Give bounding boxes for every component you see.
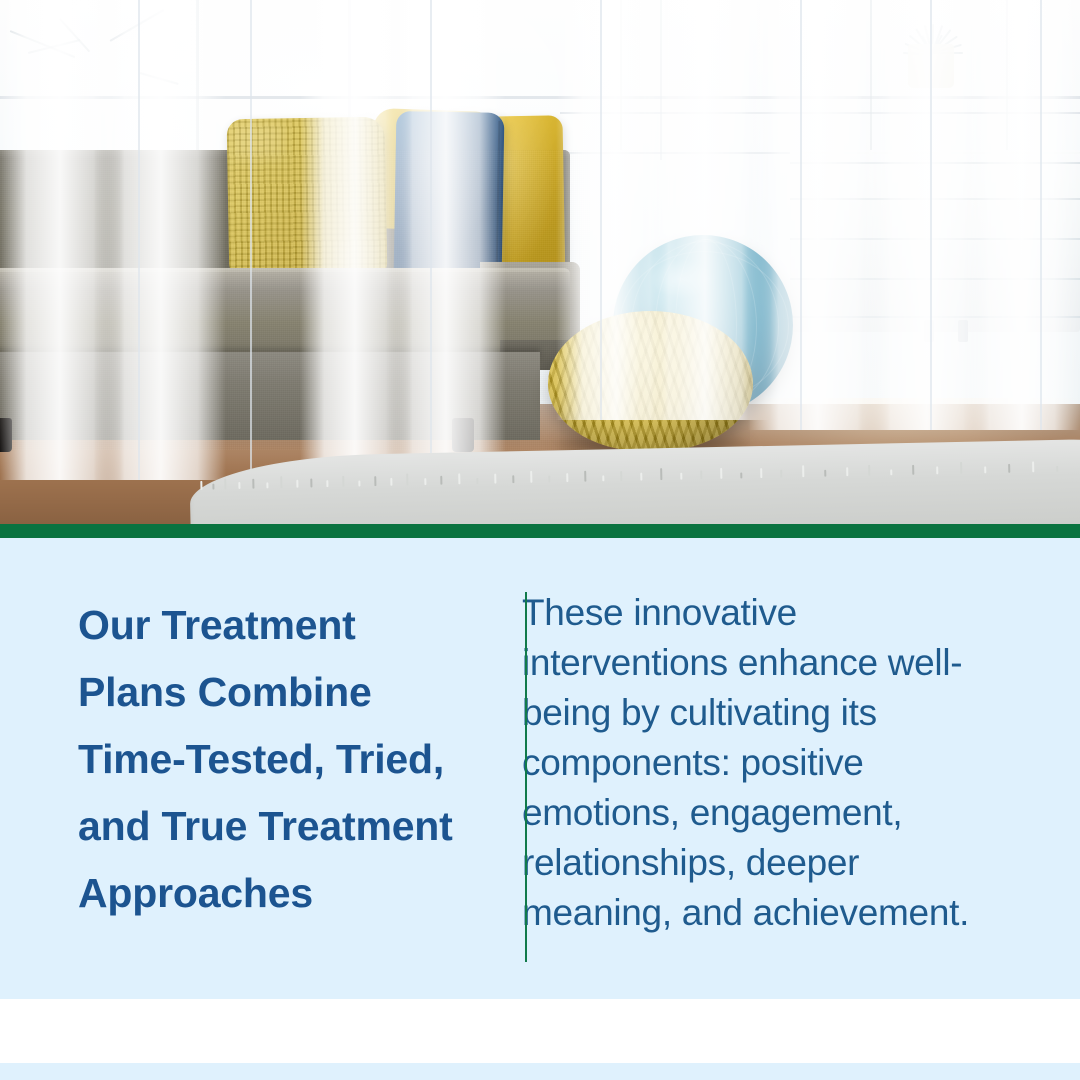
sofa-leg <box>0 418 12 452</box>
window-frame-mullion <box>196 0 199 150</box>
sofa-fabric-texture <box>0 150 590 450</box>
heading-column: Our Treatment Plans Combine Time-Tested,… <box>0 538 460 927</box>
ball-highlight <box>651 259 713 299</box>
white-spacer-band <box>0 999 1080 1063</box>
curtain-fold-edge <box>1040 0 1042 430</box>
window-frame-mullion <box>660 0 662 160</box>
sofa-leg <box>452 418 474 452</box>
window-frame-rail <box>0 96 1080 99</box>
curtain-fold-edge <box>138 0 140 480</box>
green-divider-bar <box>0 524 1080 538</box>
bottom-accent-band <box>0 1063 1080 1080</box>
hero-photo <box>0 0 1080 524</box>
window-frame-mullion <box>1006 0 1008 150</box>
curtain-fold-edge <box>430 0 432 480</box>
radiator <box>790 150 1080 332</box>
yellow-knitted-pouf <box>548 311 753 451</box>
window-frame-mullion <box>620 0 622 150</box>
body-column: These innovative interventions enhance w… <box>460 538 1016 938</box>
page-title: Our Treatment Plans Combine Time-Tested,… <box>78 592 460 927</box>
curtain-fold-edge <box>250 0 252 480</box>
window-frame-mullion <box>870 0 872 150</box>
social-post-canvas: Our Treatment Plans Combine Time-Tested,… <box>0 0 1080 1080</box>
curtain-fold-edge <box>930 0 932 430</box>
window-frame-rail <box>560 112 1080 114</box>
vertical-divider-rule <box>525 592 527 962</box>
body-paragraph: These innovative interventions enhance w… <box>522 588 976 938</box>
curtain-fold-edge <box>600 0 602 420</box>
curtain-fold-edge <box>800 0 802 430</box>
content-panel: Our Treatment Plans Combine Time-Tested,… <box>0 538 1080 999</box>
